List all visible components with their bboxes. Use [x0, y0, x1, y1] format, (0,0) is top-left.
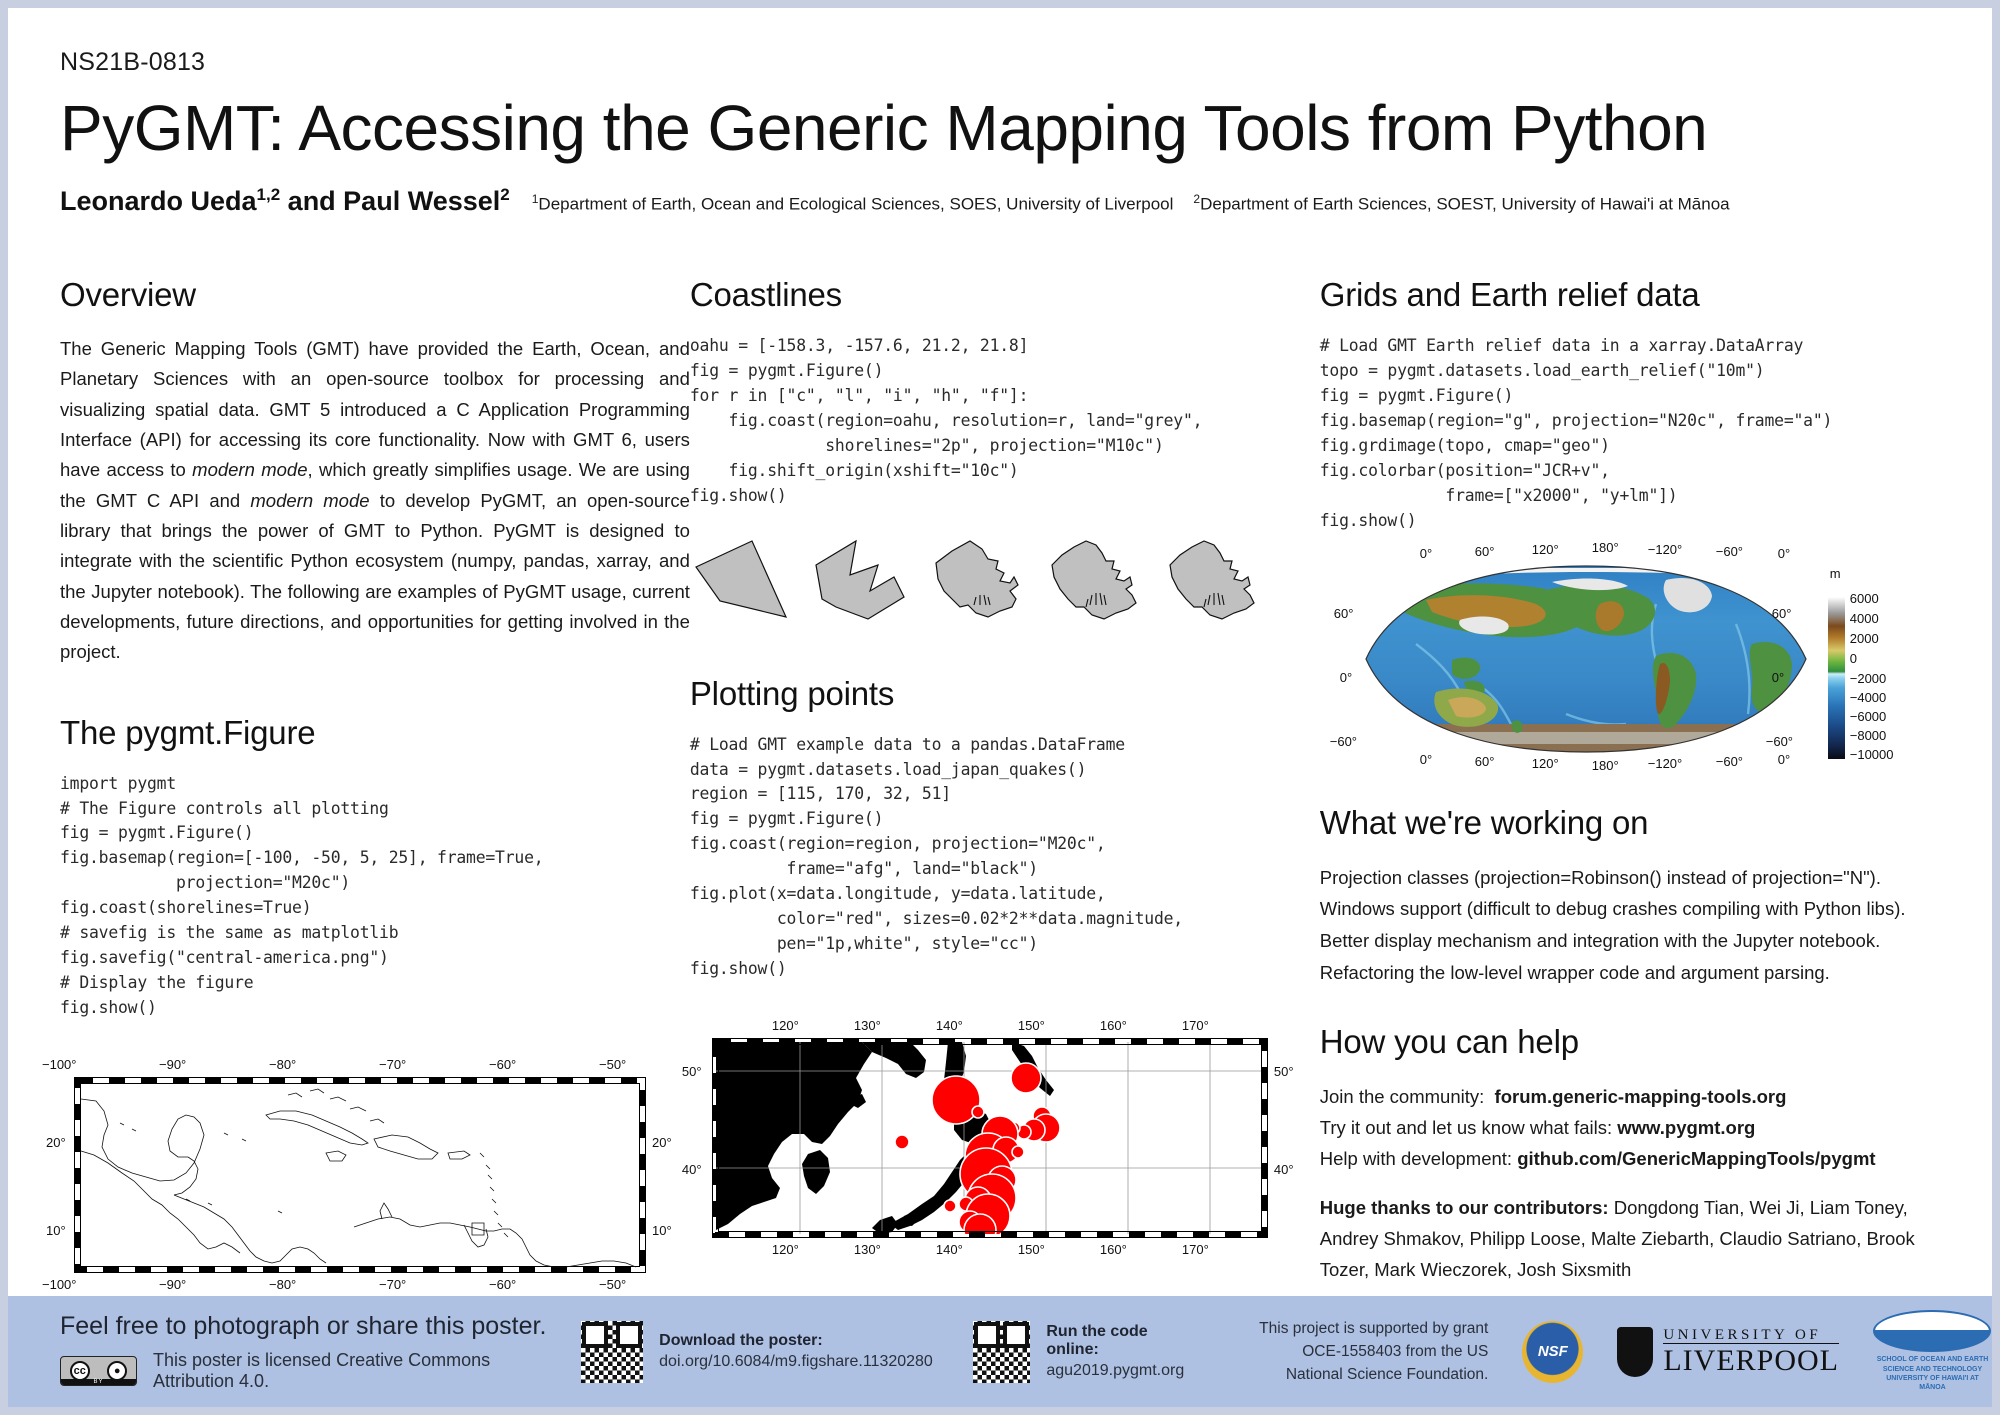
code-block-figure: import pygmt # The Figure controls all p…: [60, 772, 690, 1021]
qr-download-poster[interactable]: Download the poster: doi.org/10.6084/m9.…: [581, 1321, 933, 1383]
ytick-left: −60°: [1330, 734, 1357, 749]
qr-run-title: Run the code online:: [1046, 1323, 1193, 1359]
xtick-top: 130°: [854, 1018, 881, 1033]
code-block-coastlines: oahu = [-158.3, -157.6, 21.2, 21.8] fig …: [690, 334, 1320, 509]
license-row: cc ● BY This poster is licensed Creative…: [60, 1350, 571, 1392]
university-of-liverpool-logo: UNIVERSITY OF LIVERPOOL: [1617, 1327, 1839, 1377]
column-middle: Coastlines oahu = [-158.3, -157.6, 21.2,…: [690, 276, 1320, 1286]
ytick-left: 0°: [1340, 670, 1352, 685]
xtick-top: 150°: [1018, 1018, 1045, 1033]
section-heading-coastlines: Coastlines: [690, 276, 1320, 314]
nsf-logo: NSF: [1522, 1321, 1583, 1383]
xtick-top: −120°: [1648, 542, 1682, 557]
soest-logo: SCHOOL OF OCEAN AND EARTH SCIENCE AND TE…: [1873, 1310, 1992, 1393]
xtick-bottom: 150°: [1018, 1242, 1045, 1257]
poster-columns: Overview The Generic Mapping Tools (GMT)…: [8, 276, 1992, 1286]
liverpool-shield-icon: [1617, 1327, 1653, 1377]
section-heading-pygmt-figure: The pygmt.Figure: [60, 714, 690, 752]
xtick-top: 120°: [1532, 542, 1559, 557]
oahu-shape-crude: [690, 535, 794, 623]
xtick-bottom: −60°: [489, 1277, 516, 1292]
section-heading-working-on: What we're working on: [1320, 804, 1940, 842]
ytick-right: 40°: [1274, 1162, 1294, 1177]
colorbar-unit-label: m: [1830, 566, 1911, 581]
figure-japan-quakes: 120° 130° 140° 150° 160° 170°: [690, 1012, 1290, 1262]
oahu-shape-intermediate: [926, 535, 1030, 623]
section-heading-how-you-can-help: How you can help: [1320, 1023, 1940, 1061]
xtick-bottom: 180°: [1592, 758, 1619, 773]
xtick-bottom: 0°: [1420, 752, 1432, 767]
link-github[interactable]: github.com/GenericMappingTools/pygmt: [1517, 1148, 1875, 1169]
conference-id: NS21B-0813: [60, 48, 1940, 77]
affiliations: 1Department of Earth, Ocean and Ecologic…: [532, 192, 1730, 215]
colorbar-gradient: [1828, 597, 1845, 759]
column-right: Grids and Earth relief data # Load GMT E…: [1320, 276, 1940, 1286]
map-central-america: [74, 1077, 646, 1273]
oahu-shape-high: [1044, 535, 1148, 623]
help-line-community: Join the community: forum.generic-mappin…: [1320, 1081, 1940, 1112]
poster-header: NS21B-0813 PyGMT: Accessing the Generic …: [8, 8, 1992, 217]
xtick-top: −100°: [42, 1057, 76, 1072]
xtick-top: −80°: [269, 1057, 296, 1072]
link-forum[interactable]: forum.generic-mapping-tools.org: [1495, 1086, 1787, 1107]
xtick-top: −70°: [379, 1057, 406, 1072]
xtick-top: 160°: [1100, 1018, 1127, 1033]
ytick-right: 60°: [1772, 606, 1792, 621]
xtick-top: −90°: [159, 1057, 186, 1072]
qr-run-url: agu2019.pygmt.org: [1046, 1362, 1193, 1380]
xtick-bottom: 60°: [1475, 754, 1495, 769]
ytick-right: −60°: [1766, 734, 1793, 749]
ytick-right: 20°: [652, 1135, 672, 1150]
xtick-bottom: −80°: [269, 1277, 296, 1292]
list-item: Better display mechanism and integration…: [1320, 925, 1940, 957]
help-line-tryout: Try it out and let us know what fails: w…: [1320, 1112, 1940, 1143]
ytick-right: 0°: [1772, 670, 1784, 685]
xtick-bottom: 120°: [772, 1242, 799, 1257]
grant-acknowledgement: This project is supported by grant OCE-1…: [1255, 1317, 1488, 1387]
xtick-top: 140°: [936, 1018, 963, 1033]
oahu-shape-low: [808, 535, 912, 623]
xtick-top: 170°: [1182, 1018, 1209, 1033]
xtick-top: −60°: [489, 1057, 516, 1072]
xtick-bottom: 120°: [1532, 756, 1559, 771]
ytick-right: 50°: [1274, 1064, 1294, 1079]
xtick-bottom: 160°: [1100, 1242, 1127, 1257]
ytick-left: 10°: [46, 1223, 66, 1238]
globe-svg: [1356, 564, 1816, 754]
help-links: Join the community: forum.generic-mappin…: [1320, 1081, 1940, 1285]
qr-code-icon[interactable]: [581, 1321, 643, 1383]
xtick-top: −60°: [1716, 544, 1743, 559]
xtick-top: −50°: [599, 1057, 626, 1072]
ytick-left: 60°: [1334, 606, 1354, 621]
footer-share-block: Feel free to photograph or share this po…: [8, 1312, 571, 1392]
qr-download-url: doi.org/10.6084/m9.figshare.11320280: [659, 1353, 933, 1371]
figure-earth-relief: 0° 60° 120° 180° −120° −60° 0°: [1320, 544, 1920, 782]
help-line-development: Help with development: github.com/Generi…: [1320, 1143, 1940, 1174]
map-japan-quakes: [712, 1038, 1268, 1238]
xtick-bottom: 130°: [854, 1242, 881, 1257]
creative-commons-icon: cc ● BY: [60, 1356, 137, 1386]
section-heading-overview: Overview: [60, 276, 690, 314]
author-line: Leonardo Ueda1,2 and Paul Wessel2 1Depar…: [60, 185, 1940, 217]
license-text: This poster is licensed Creative Commons…: [153, 1350, 571, 1392]
link-pygmt-org[interactable]: www.pygmt.org: [1617, 1117, 1755, 1138]
column-left: Overview The Generic Mapping Tools (GMT)…: [60, 276, 690, 1286]
xtick-bottom: −120°: [1648, 756, 1682, 771]
figure-central-america: −100° −90° −80° −70° −60° −50°: [60, 1051, 660, 1297]
soest-wave-icon: [1873, 1310, 1991, 1352]
oahu-shape-full: [1162, 535, 1266, 623]
ytick-right: 10°: [652, 1223, 672, 1238]
xtick-top: 180°: [1592, 540, 1619, 555]
xtick-bottom: 140°: [936, 1242, 963, 1257]
xtick-bottom: −100°: [42, 1277, 76, 1292]
colorbar: m 6000 4000 2000 0 −2000 −4000 −6000 −80…: [1828, 582, 1909, 759]
xtick-bottom: −90°: [159, 1277, 186, 1292]
qr-code-icon[interactable]: [973, 1321, 1031, 1383]
colorbar-ticks: 6000 4000 2000 0 −2000 −4000 −6000 −8000…: [1845, 597, 1909, 759]
qr-download-title: Download the poster:: [659, 1332, 933, 1350]
xtick-bottom: 170°: [1182, 1242, 1209, 1257]
section-heading-grids: Grids and Earth relief data: [1320, 276, 1940, 314]
xtick-top: 0°: [1420, 546, 1432, 561]
xtick-bottom: −60°: [1716, 754, 1743, 769]
figure-oahu-resolutions: [690, 535, 1320, 623]
ytick-left: 40°: [682, 1162, 702, 1177]
list-item: Projection classes (projection=Robinson(…: [1320, 862, 1940, 894]
share-text: Feel free to photograph or share this po…: [60, 1312, 571, 1341]
list-item: Refactoring the low-level wrapper code a…: [1320, 957, 1940, 989]
code-block-plotting-points: # Load GMT example data to a pandas.Data…: [690, 733, 1320, 982]
working-on-list: Projection classes (projection=Robinson(…: [1320, 862, 1940, 989]
qr-run-code-online[interactable]: Run the code online: agu2019.pygmt.org: [973, 1321, 1193, 1383]
section-heading-plotting-points: Plotting points: [690, 675, 1320, 713]
ytick-left: 50°: [682, 1064, 702, 1079]
poster-canvas: NS21B-0813 PyGMT: Accessing the Generic …: [8, 8, 1992, 1407]
coastline-svg: [74, 1077, 646, 1273]
list-item: Windows support (difficult to debug cras…: [1320, 893, 1940, 925]
page-title: PyGMT: Accessing the Generic Mapping Too…: [60, 95, 1940, 163]
xtick-bottom: −50°: [599, 1277, 626, 1292]
author-names: Leonardo Ueda1,2 and Paul Wessel2: [60, 185, 510, 217]
ytick-left: 20°: [46, 1135, 66, 1150]
xtick-top: 0°: [1778, 546, 1790, 561]
poster-footer: Feel free to photograph or share this po…: [8, 1296, 1992, 1407]
xtick-bottom: 0°: [1778, 752, 1790, 767]
xtick-top: 120°: [772, 1018, 799, 1033]
code-block-grids: # Load GMT Earth relief data in a xarray…: [1320, 334, 1940, 534]
japan-map-svg: [712, 1038, 1268, 1238]
sponsor-logos: NSF UNIVERSITY OF LIVERPOOL SCHOOL OF OC…: [1522, 1310, 1992, 1393]
overview-paragraph: The Generic Mapping Tools (GMT) have pro…: [60, 334, 690, 668]
xtick-bottom: −70°: [379, 1277, 406, 1292]
xtick-top: 60°: [1475, 544, 1495, 559]
contributors: Huge thanks to our contributors: Dongdon…: [1320, 1192, 1940, 1285]
